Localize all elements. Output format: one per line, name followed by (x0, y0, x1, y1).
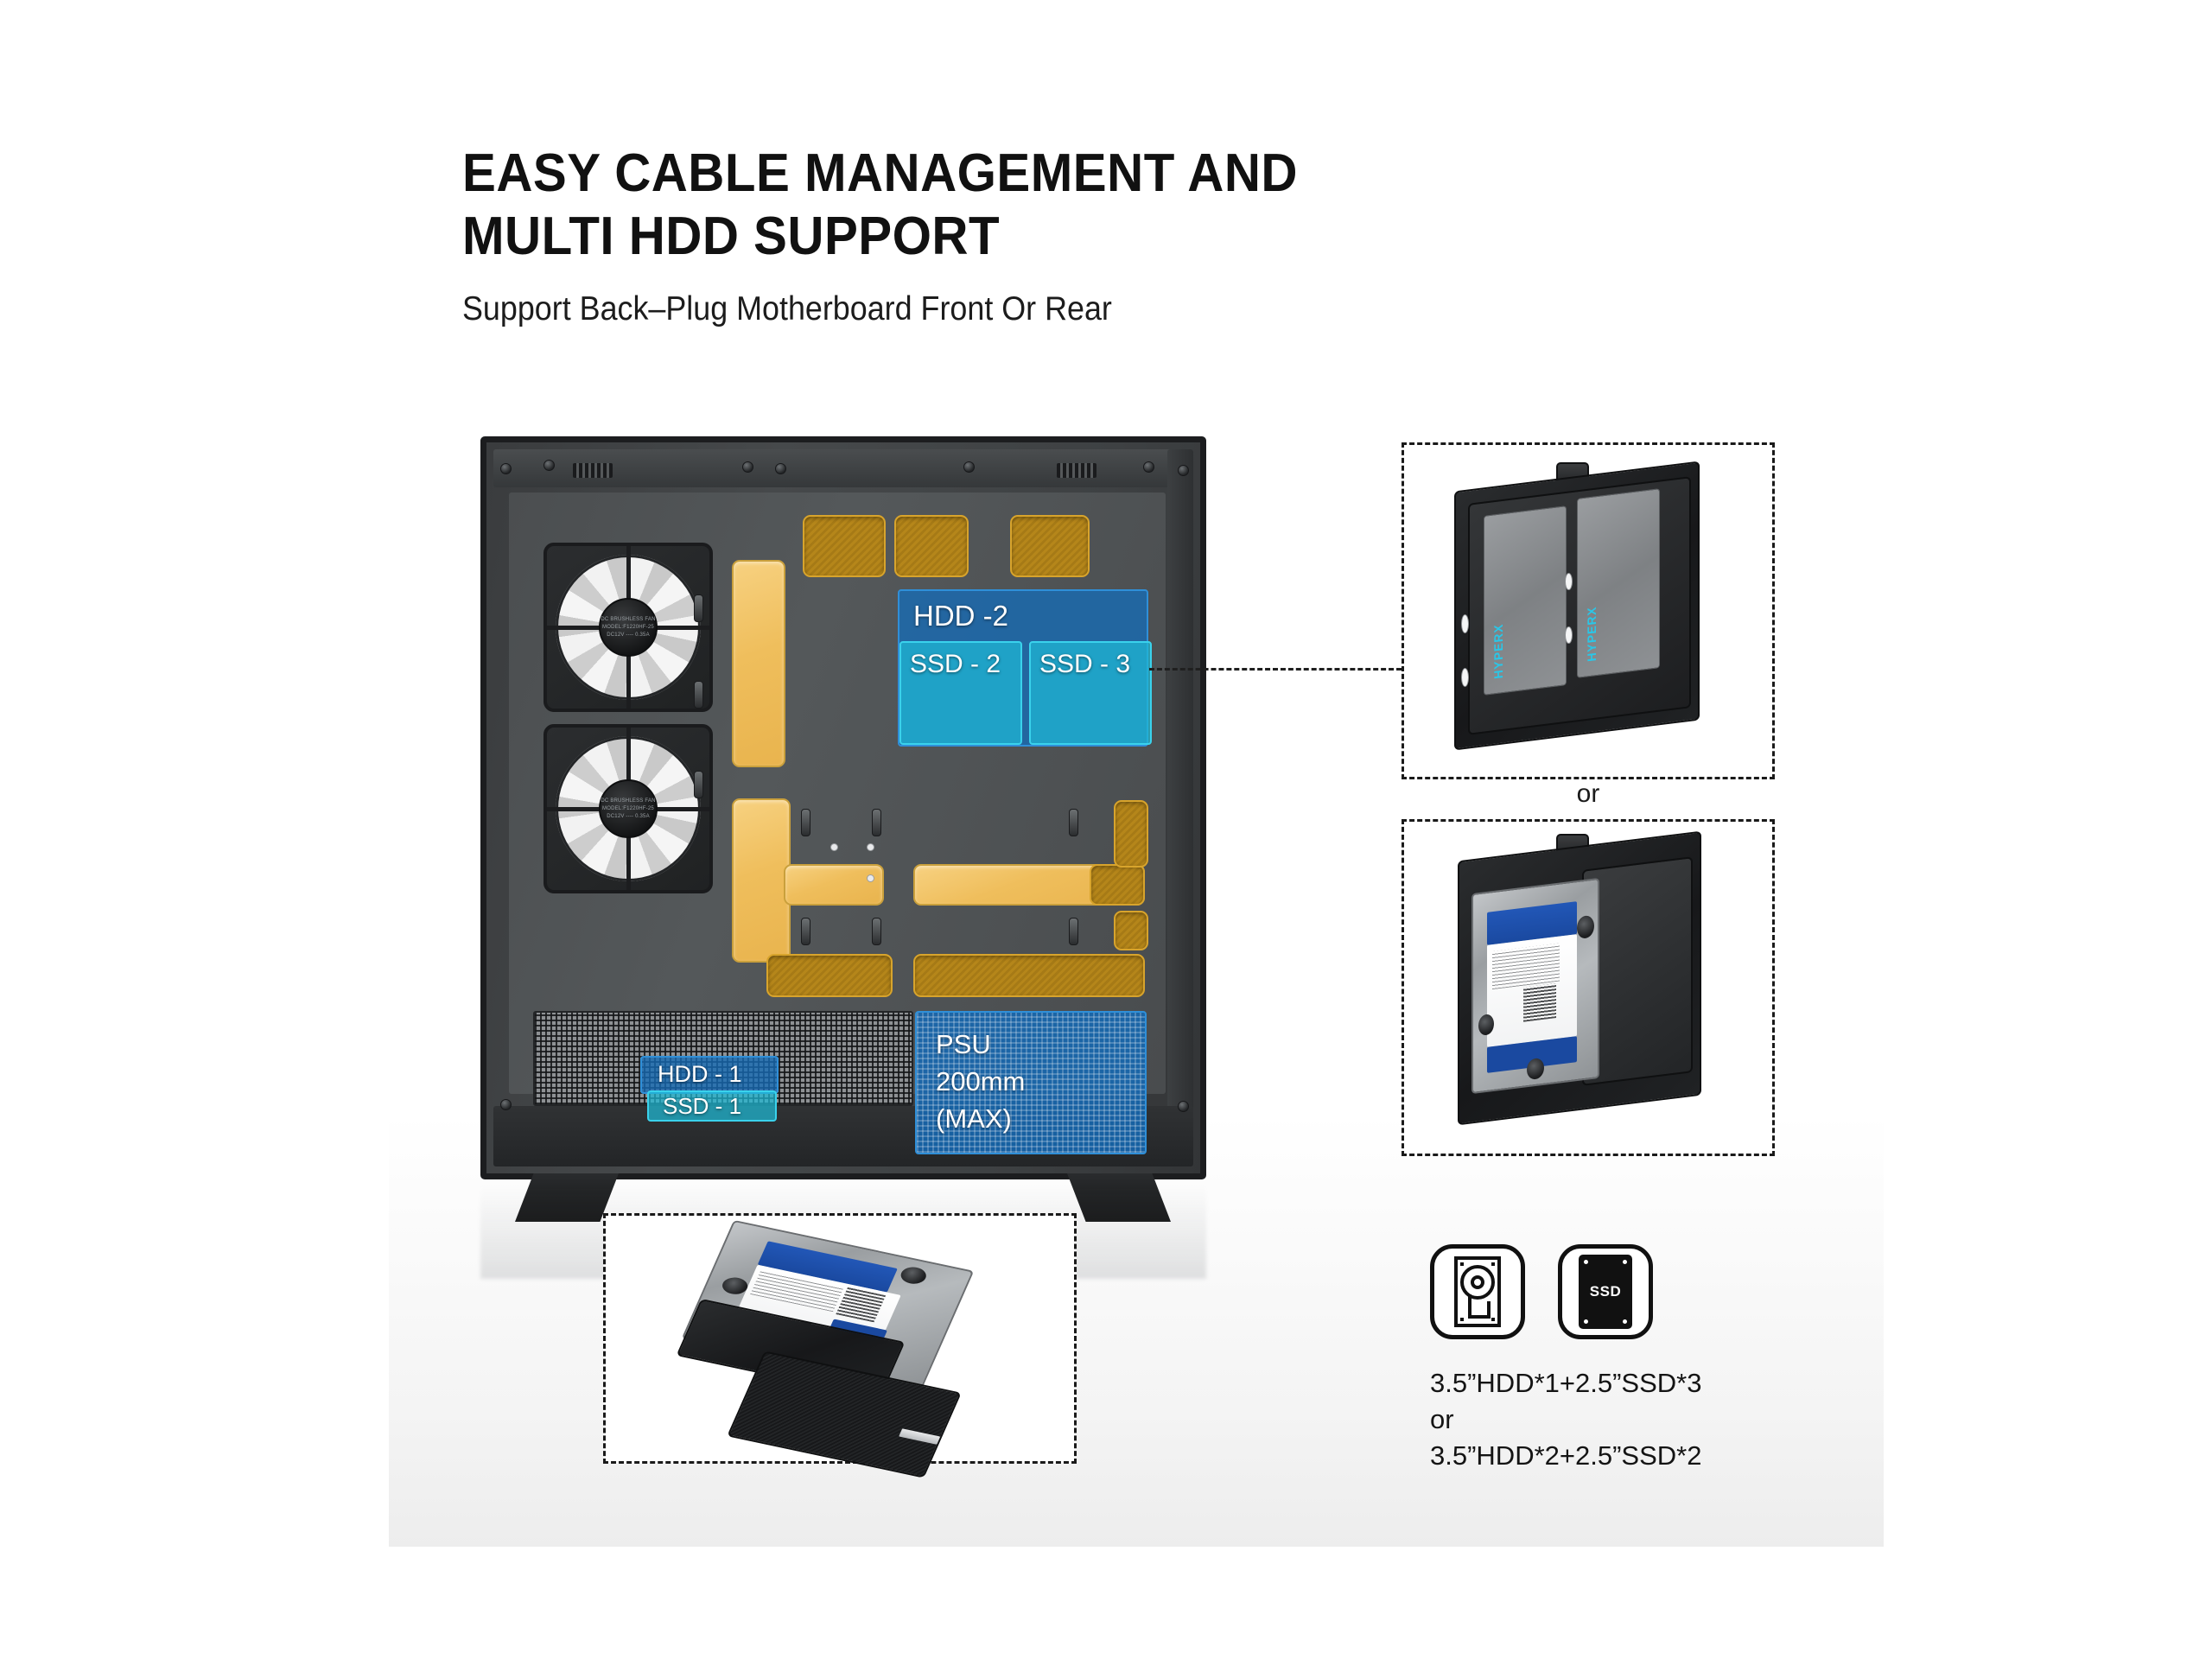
hdd-label-barcode (1523, 983, 1556, 1022)
ssd-unit-right: HYPERX (1577, 488, 1660, 678)
ssd-icon: SSD (1558, 1244, 1653, 1339)
case-screw (1178, 465, 1189, 476)
case-screw (775, 463, 786, 474)
sata-connector (899, 1428, 940, 1444)
cable-clip (694, 594, 703, 622)
motherboard-standoff (830, 843, 838, 851)
case-right-rail (1167, 449, 1193, 1166)
legend-capacity-text: 3.5”HDD*1+2.5”SSD*3 or 3.5”HDD*2+2.5”SSD… (1430, 1365, 1827, 1474)
overlay-label-psu-line-1: PSU (936, 1027, 1145, 1064)
fan-hub-line-1: DC BRUSHLESS FAN (601, 616, 655, 624)
overlay-ssd-3-region: SSD - 3 (1029, 641, 1152, 745)
overlay-ssd-1-region: SSD - 1 (647, 1090, 777, 1122)
callout-box-dual-ssd-tray: HYPERX HYPERX (1402, 442, 1775, 779)
tray-mount-hole (1461, 614, 1469, 633)
page-subtitle: Support Back–Plug Motherboard Front Or R… (462, 290, 1575, 328)
pc-case-illustration: DC BRUSHLESS FAN MODEL:F1220HF-25 DC12V … (480, 436, 1206, 1179)
overlay-hdd-1-region: HDD - 1 (640, 1056, 779, 1094)
fan-hub-line-2: MODEL:F1220HF-25 (602, 805, 654, 813)
cable-cutout-right-upper (1090, 864, 1145, 906)
case-interior: DC BRUSHLESS FAN MODEL:F1220HF-25 DC12V … (509, 493, 1166, 1094)
overlay-ssd-2-region: SSD - 2 (899, 641, 1022, 745)
hdd-icon (1430, 1244, 1525, 1339)
page-title-line-1: EASY CABLE MANAGEMENT AND (462, 143, 1599, 206)
overlay-label-psu-line-3: (MAX) (936, 1101, 1145, 1138)
cable-clip (1069, 809, 1078, 836)
fan-hub-line-3: DC12V ---- 0.35A (607, 813, 650, 821)
overlay-label-hdd-1: HDD - 1 (658, 1061, 742, 1088)
overlay-psu-region: PSU 200mm (MAX) (915, 1011, 1147, 1154)
cable-cutout-side-lower (1114, 911, 1148, 950)
case-vent-cluster (1057, 463, 1096, 478)
cable-cutout-bottom-left (766, 954, 893, 997)
fan-hub-line-3: DC12V ---- 0.35A (607, 632, 650, 639)
legend-line-2: or (1430, 1402, 1827, 1438)
hdd-screw-hole (898, 1265, 929, 1286)
cable-clip (694, 771, 703, 798)
cable-cutout-top-2 (894, 515, 969, 577)
case-screw (1178, 1101, 1189, 1112)
ssd-brand-label: HYPERX (1491, 623, 1505, 680)
hdd-screw-hole (1577, 915, 1594, 939)
cable-clip (872, 918, 881, 945)
product-feature-page: EASY CABLE MANAGEMENT AND MULTI HDD SUPP… (0, 0, 2212, 1659)
case-screw (500, 463, 512, 474)
tray-mount-hole (1565, 626, 1573, 644)
fan-hub-text: DC BRUSHLESS FAN MODEL:F1220HF-25 DC12V … (601, 600, 656, 655)
cable-cutout-side-upper (1114, 800, 1148, 868)
case-body: DC BRUSHLESS FAN MODEL:F1220HF-25 DC12V … (480, 436, 1206, 1179)
callout-box-hdd-tray (1402, 819, 1775, 1156)
cable-clip (801, 809, 810, 836)
overlay-label-hdd-2: HDD -2 (913, 600, 1008, 632)
cable-cutout-t-arm (784, 864, 884, 906)
callout-leader-line (1149, 668, 1402, 671)
hdd-3-5-inch-unit (1471, 878, 1599, 1094)
cable-cutout-vertical-left (732, 560, 785, 767)
cable-cutout-top-3 (1010, 515, 1090, 577)
tray-mount-hole (1461, 668, 1469, 687)
cable-cutout-top-1 (803, 515, 886, 577)
heading-block: EASY CABLE MANAGEMENT AND MULTI HDD SUPP… (462, 143, 1672, 328)
cable-clip (801, 918, 810, 945)
cable-clip (872, 809, 881, 836)
case-screw (742, 461, 753, 473)
case-screw (963, 461, 975, 473)
ssd-unit-left: HYPERX (1484, 505, 1567, 696)
fan-hub-line-1: DC BRUSHLESS FAN (601, 798, 655, 805)
legend-line-3: 3.5”HDD*2+2.5”SSD*2 (1430, 1438, 1827, 1474)
cable-cutout-bottom-right (913, 954, 1145, 997)
overlay-label-psu-line-2: 200mm (936, 1064, 1145, 1101)
fan-hub: DC BRUSHLESS FAN MODEL:F1220HF-25 DC12V … (599, 779, 658, 838)
cable-cutout-t-vertical (732, 798, 791, 963)
overlay-label-ssd-3: SSD - 3 (1039, 650, 1130, 679)
hdd-screw-hole (1527, 1058, 1544, 1080)
case-fan-top: DC BRUSHLESS FAN MODEL:F1220HF-25 DC12V … (543, 543, 713, 712)
overlay-label-ssd-1: SSD - 1 (663, 1093, 741, 1120)
case-screw (1143, 461, 1154, 473)
cable-clip (1069, 918, 1078, 945)
page-title-line-2: MULTI HDD SUPPORT (462, 206, 1599, 269)
fan-hub-text: DC BRUSHLESS FAN MODEL:F1220HF-25 DC12V … (601, 781, 656, 836)
fan-hub-line-2: MODEL:F1220HF-25 (602, 624, 654, 632)
callout-or-separator: or (1402, 779, 1775, 809)
legend-line-1: 3.5”HDD*1+2.5”SSD*3 (1430, 1365, 1827, 1402)
case-screw (500, 1099, 512, 1110)
ssd-brand-label: HYPERX (1585, 606, 1599, 663)
ssd-icon-label: SSD (1590, 1283, 1621, 1300)
cable-clip (694, 681, 703, 709)
hdd-icon-glyph (1451, 1256, 1504, 1327)
motherboard-standoff (867, 843, 874, 851)
case-screw (543, 460, 555, 471)
callout-box-hdd-plus-ssd (603, 1213, 1077, 1464)
tray-mount-hole (1565, 573, 1573, 590)
ssd-icon-glyph: SSD (1579, 1255, 1632, 1329)
case-fan-bottom: DC BRUSHLESS FAN MODEL:F1220HF-25 DC12V … (543, 724, 713, 893)
case-vent-cluster (573, 463, 613, 478)
motherboard-standoff (867, 874, 874, 882)
fan-hub: DC BRUSHLESS FAN MODEL:F1220HF-25 DC12V … (599, 598, 658, 657)
overlay-label-ssd-2: SSD - 2 (910, 650, 1001, 679)
